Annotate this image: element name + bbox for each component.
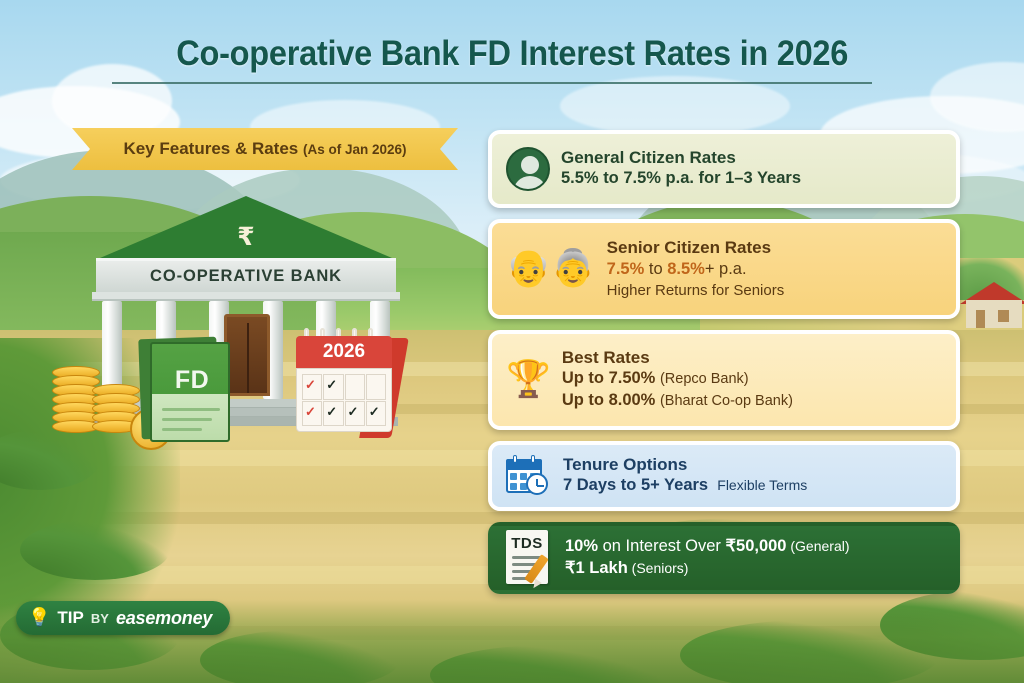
passbook-line — [162, 418, 212, 421]
brand-name: easemoney — [116, 608, 212, 629]
calendar-check: ✓ — [326, 378, 337, 391]
card-title: General Citizen Rates — [561, 148, 942, 169]
passbook-line — [162, 428, 202, 431]
bank-frieze: CO-OPERATIVE BANK — [96, 258, 396, 292]
house-window — [998, 310, 1009, 322]
calendar-cell — [345, 374, 365, 400]
farmhouse-illustration — [960, 282, 1024, 328]
calendar-check: ✓ — [369, 405, 380, 418]
passbook-front-cover: FD — [150, 342, 230, 442]
bank-architrave — [92, 292, 400, 301]
cloud — [560, 76, 790, 136]
tds-document-icon: TDS — [506, 530, 554, 586]
calendar-check: ✓ — [326, 405, 337, 418]
calendar-illustration: 2026 ✓ ✓ ✓ ✓ ✓ ✓ — [296, 328, 404, 438]
ribbon-sublabel: (As of Jan 2026) — [303, 142, 407, 157]
calendar-cell: ✓ — [302, 401, 322, 427]
tds-line-1-mid: on Interest Over — [598, 537, 725, 555]
house-door — [976, 310, 985, 328]
rate-suffix: + p.a. — [705, 260, 747, 278]
card-tenure-options[interactable]: Tenure Options 7 Days to 5+ Years Flexib… — [488, 441, 960, 511]
tenure-range: 7 Days to 5+ Years — [563, 476, 708, 494]
rate-high: 8.5% — [667, 260, 705, 278]
tds-rate: 10% — [565, 537, 598, 555]
card-tds-rules[interactable]: TDS 10% on Interest Over ₹50,000 (Genera… — [488, 522, 960, 594]
tds-line-1: 10% on Interest Over ₹50,000 (General) — [565, 536, 942, 558]
page-title: Co-operative Bank FD Interest Rates in 2… — [176, 34, 848, 74]
title-underline — [112, 82, 872, 84]
tds-general-note: (General) — [786, 538, 849, 554]
calendar-grid: ✓ ✓ ✓ ✓ ✓ ✓ — [302, 374, 386, 426]
ribbon-label-text: Key Features & Rates — [123, 139, 298, 158]
house-walls — [966, 300, 1022, 328]
tds-senior-note: (Seniors) — [628, 560, 689, 576]
best-rate-row-2: Up to 8.00% (Bharat Co-op Bank) — [562, 390, 942, 412]
rupee-symbol-icon: ₹ — [96, 222, 396, 251]
calendar-check: ✓ — [305, 378, 316, 391]
card-senior-citizen-rates[interactable]: 👴👵 Senior Citizen Rates 7.5% to 8.5%+ p.… — [488, 219, 960, 319]
calendar-check: ✓ — [348, 405, 359, 418]
tip-label: TIP — [57, 608, 83, 628]
fd-label: FD — [152, 366, 232, 395]
calendar-cell: ✓ — [323, 401, 343, 427]
cloud — [52, 64, 172, 138]
tds-threshold-senior: ₹1 Lakh — [565, 559, 628, 577]
calendar-clock-icon — [506, 455, 552, 497]
rate-low: 7.5% — [607, 260, 645, 278]
best-rate-2-value: Up to 8.00% — [562, 391, 656, 409]
tds-line-2: ₹1 Lakh (Seniors) — [565, 558, 942, 580]
calendar-cell: ✓ — [323, 374, 343, 400]
ribbon-label: Key Features & Rates (As of Jan 2026) — [123, 139, 406, 159]
bank-name-label: CO-OPERATIVE BANK — [150, 267, 342, 286]
lightbulb-icon: 💡 — [28, 609, 50, 627]
card-rate-line: 7.5% to 8.5%+ p.a. — [607, 259, 942, 281]
rates-card-list: General Citizen Rates 5.5% to 7.5% p.a. … — [488, 130, 960, 605]
person-avatar-icon — [506, 147, 550, 191]
calendar-cell: ✓ — [366, 401, 386, 427]
card-general-citizen-rates[interactable]: General Citizen Rates 5.5% to 7.5% p.a. … — [488, 130, 960, 208]
card-subtext: Higher Returns for Seniors — [607, 281, 942, 301]
fern — [20, 520, 170, 580]
tip-by-label: BY — [91, 611, 109, 626]
key-features-ribbon: Key Features & Rates (As of Jan 2026) — [72, 128, 458, 170]
calendar-body: ✓ ✓ ✓ ✓ ✓ ✓ — [296, 368, 392, 432]
rate-connector: to — [649, 260, 663, 278]
trophy-icon: 🏆 — [506, 362, 551, 398]
card-title: Senior Citizen Rates — [607, 238, 942, 259]
tenure-line: 7 Days to 5+ Years Flexible Terms — [563, 475, 942, 497]
passbook-line — [162, 408, 220, 411]
card-title: Tenure Options — [563, 455, 942, 476]
fd-passbook-illustration: FD — [150, 342, 236, 442]
tip-badge[interactable]: 💡 TIP BY easemoney — [16, 601, 230, 635]
best-rate-1-value: Up to 7.50% — [562, 369, 656, 387]
calendar-cell: ✓ — [302, 374, 322, 400]
calendar-check: ✓ — [305, 405, 316, 418]
tds-threshold-general: ₹50,000 — [726, 537, 787, 555]
elderly-couple-icon: 👴👵 — [506, 251, 596, 287]
calendar-cell: ✓ — [345, 401, 365, 427]
page-title-wrap: Co-operative Bank FD Interest Rates in 2… — [0, 34, 1024, 74]
tenure-note: Flexible Terms — [717, 477, 807, 493]
calendar-cell — [366, 374, 386, 400]
calendar-year-label: 2026 — [296, 336, 392, 368]
card-rate-line: 5.5% to 7.5% p.a. for 1–3 Years — [561, 168, 942, 190]
card-best-rates[interactable]: 🏆 Best Rates Up to 7.50% (Repco Bank) Up… — [488, 330, 960, 430]
best-rate-row-1: Up to 7.50% (Repco Bank) — [562, 368, 942, 390]
best-rate-1-bank: (Repco Bank) — [660, 371, 749, 387]
card-title: Best Rates — [562, 348, 942, 369]
tds-doc-label: TDS — [506, 535, 548, 552]
best-rate-2-bank: (Bharat Co-op Bank) — [660, 393, 793, 409]
